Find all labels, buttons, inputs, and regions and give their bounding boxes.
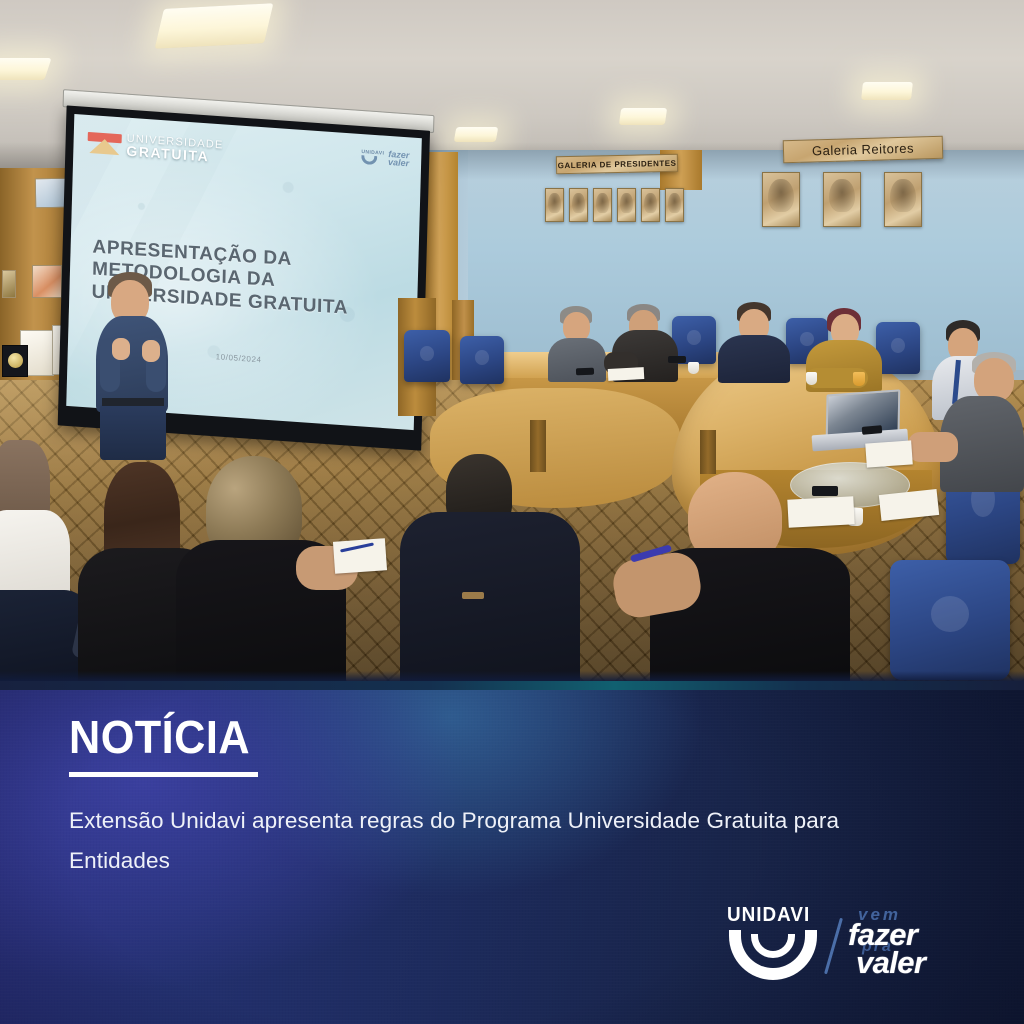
portrait-frame [641,188,660,222]
blazer-tag [462,592,484,599]
trophy [2,270,16,298]
drink-cup [688,362,699,374]
unidavi-logo: UNIDAVI [726,903,822,981]
fazer-valer-logo: vem pra fazer valer [848,903,966,987]
presenter-hand [112,338,130,360]
notepad [333,538,387,574]
ceiling-light [861,82,913,100]
ceiling-light [619,108,667,125]
portrait-frame [617,188,636,222]
brand-slash-icon [824,918,843,975]
program-logo-mark-icon [87,132,122,156]
photo-bottom-fade [0,671,1024,681]
sign-galeria-presidentes: GALERIA DE PRESIDENTES [556,154,678,175]
presenter-belt [102,398,164,406]
projection-screen: UNIVERSIDADE GRATUITA UNIDAVI fazer vale… [36,90,423,456]
smartphone [576,368,594,376]
photo-region: GALERIA DE PRESIDENTES Galeria Reitores [0,0,1024,681]
attendee-blazer [400,512,580,681]
attendee-torso [718,335,790,383]
sign-galeria-reitores: Galeria Reitores [783,136,944,163]
portrait-frame [884,172,922,227]
news-kicker: NOTÍCIA [69,714,250,760]
tagline-valer: valer [856,947,925,978]
attendee-torso [548,338,606,382]
portrait-frame [593,188,612,222]
foreground-attendees [0,440,1024,681]
news-headline: Extensão Unidavi apresenta regras do Pro… [69,801,869,881]
kicker-underline [69,772,258,777]
news-card: GALERIA DE PRESIDENTES Galeria Reitores [0,0,1024,1024]
ceiling-light [155,3,274,49]
ceiling-light [454,127,499,142]
slide-unidavi-logo: UNIDAVI fazer valer [361,148,409,168]
drink-cup [806,372,817,385]
office-chair [876,322,920,374]
slide-brand-tagline-2: valer [388,158,409,168]
ceiling-light [0,58,52,80]
portrait-frame [545,188,564,222]
portrait-frame [823,172,861,227]
unidavi-wordmark: UNIDAVI [727,903,810,927]
presenter-hand [142,340,160,362]
unidavi-bowl-icon [361,155,377,165]
portrait-frame [762,172,800,227]
drink-cup [853,372,865,386]
smartphone [668,356,686,363]
paper-sheet [608,367,645,381]
office-chair [404,330,450,382]
office-chair [460,336,504,384]
brand-lockup: UNIDAVI vem pra fazer valer [726,903,964,988]
portrait-row-reitores [762,172,922,227]
portrait-frame [569,188,588,222]
banner-top-strip [0,681,1024,690]
portrait-row-presidentes [545,188,684,222]
medal-case [2,345,28,377]
portrait-frame [665,188,684,222]
